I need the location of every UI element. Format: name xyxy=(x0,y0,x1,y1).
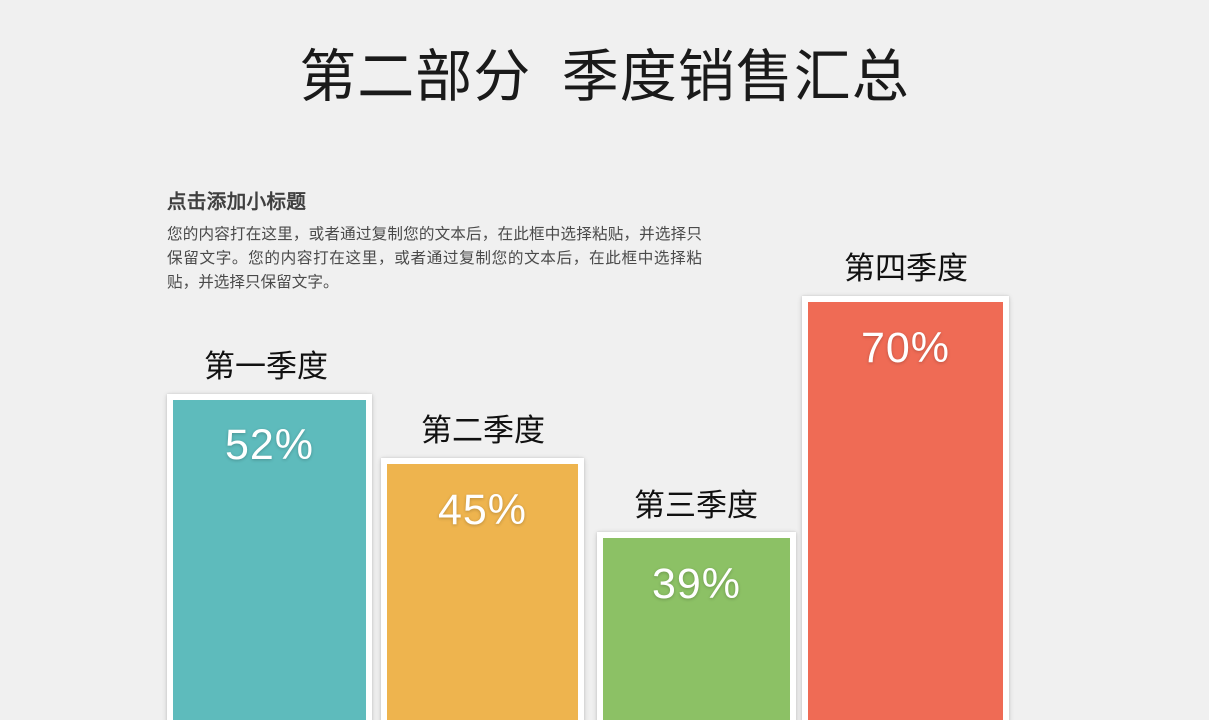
bar-group-q2 xyxy=(381,458,584,720)
bar-group-q4 xyxy=(802,296,1009,720)
bar-label-q2: 第二季度 xyxy=(415,415,551,448)
bar-q2[interactable] xyxy=(381,458,584,720)
bar-label-q3: 第三季度 xyxy=(628,490,764,523)
bar-chart: 52% 第一季度 45% 第二季度 39% 第三季度 70% 第四季度 xyxy=(0,0,1209,720)
presentation-slide: 第二部分 季度销售汇总 点击添加小标题 您的内容打在这里，或者通过复制您的文本后… xyxy=(0,0,1209,720)
bar-q4[interactable] xyxy=(802,296,1009,720)
bar-q1[interactable] xyxy=(167,394,372,720)
bar-label-q1: 第一季度 xyxy=(198,351,334,384)
bar-label-q4: 第四季度 xyxy=(838,253,974,286)
bar-group-q1 xyxy=(167,394,372,720)
bar-q3[interactable] xyxy=(597,532,796,720)
bar-group-q3 xyxy=(597,532,796,720)
